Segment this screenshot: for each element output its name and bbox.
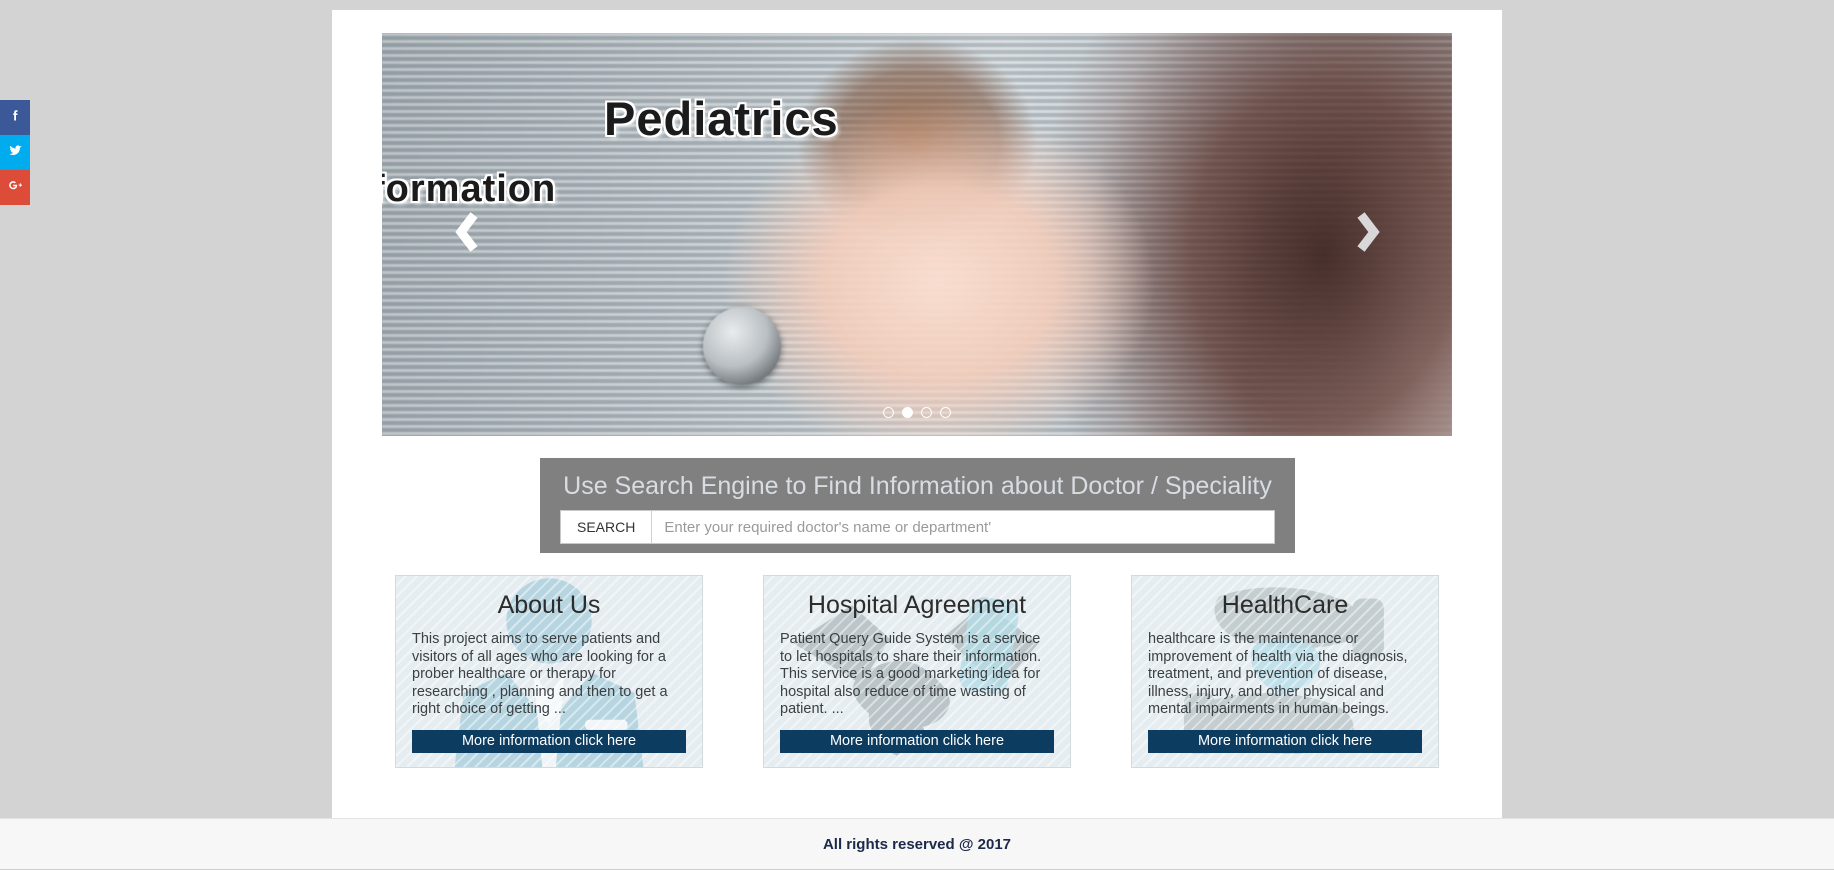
card-text: healthcare is the maintenance or improve… [1148, 631, 1422, 719]
carousel-slide-image [382, 33, 1452, 436]
info-cards-row: About Us This project aims to serve pati… [335, 575, 1499, 768]
card-more-info-button[interactable]: More information click here [412, 730, 686, 753]
card-more-info-button[interactable]: More information click here [780, 730, 1054, 753]
hero-carousel[interactable]: Pediatrics formation [382, 33, 1452, 436]
card-more-info-button[interactable]: More information click here [1148, 730, 1422, 753]
info-card-about-us: About Us This project aims to serve pati… [395, 575, 703, 768]
copyright-text: All rights reserved @ 2017 [823, 836, 1011, 853]
card-title: HealthCare [1148, 588, 1422, 622]
google-plus-icon [8, 178, 23, 198]
twitter-icon [8, 143, 23, 163]
page-footer: All rights reserved @ 2017 [0, 818, 1834, 870]
info-card-healthcare: HealthCare healthcare is the maintenance… [1131, 575, 1439, 768]
twitter-share-button[interactable] [0, 135, 30, 170]
carousel-next-button[interactable] [1340, 208, 1394, 262]
carousel-indicators [382, 407, 1452, 418]
card-title: About Us [412, 588, 686, 622]
carousel-dot-1[interactable] [883, 407, 894, 418]
carousel-dot-4[interactable] [940, 407, 951, 418]
facebook-icon [8, 108, 23, 128]
google-plus-share-button[interactable] [0, 170, 30, 205]
carousel-dot-3[interactable] [921, 407, 932, 418]
chevron-left-icon [452, 211, 482, 258]
card-text: Patient Query Guide System is a service … [780, 631, 1054, 719]
carousel-prev-button[interactable] [440, 208, 494, 262]
search-heading: Use Search Engine to Find Information ab… [560, 468, 1275, 504]
search-button[interactable]: SEARCH [561, 511, 652, 543]
search-input[interactable] [652, 511, 1274, 543]
card-text: This project aims to serve patients and … [412, 631, 686, 719]
info-card-hospital-agreement: Hospital Agreement Patient Query Guide S… [763, 575, 1071, 768]
page-container: Pediatrics formation Use Search Engine t… [332, 10, 1502, 818]
carousel-dot-2[interactable] [902, 407, 913, 418]
search-panel: Use Search Engine to Find Information ab… [540, 458, 1295, 553]
social-share-rail [0, 100, 30, 205]
chevron-right-icon [1352, 211, 1382, 258]
facebook-share-button[interactable] [0, 100, 30, 135]
search-input-group: SEARCH [560, 510, 1275, 544]
card-title: Hospital Agreement [780, 588, 1054, 622]
stethoscope-decoration [703, 307, 781, 385]
